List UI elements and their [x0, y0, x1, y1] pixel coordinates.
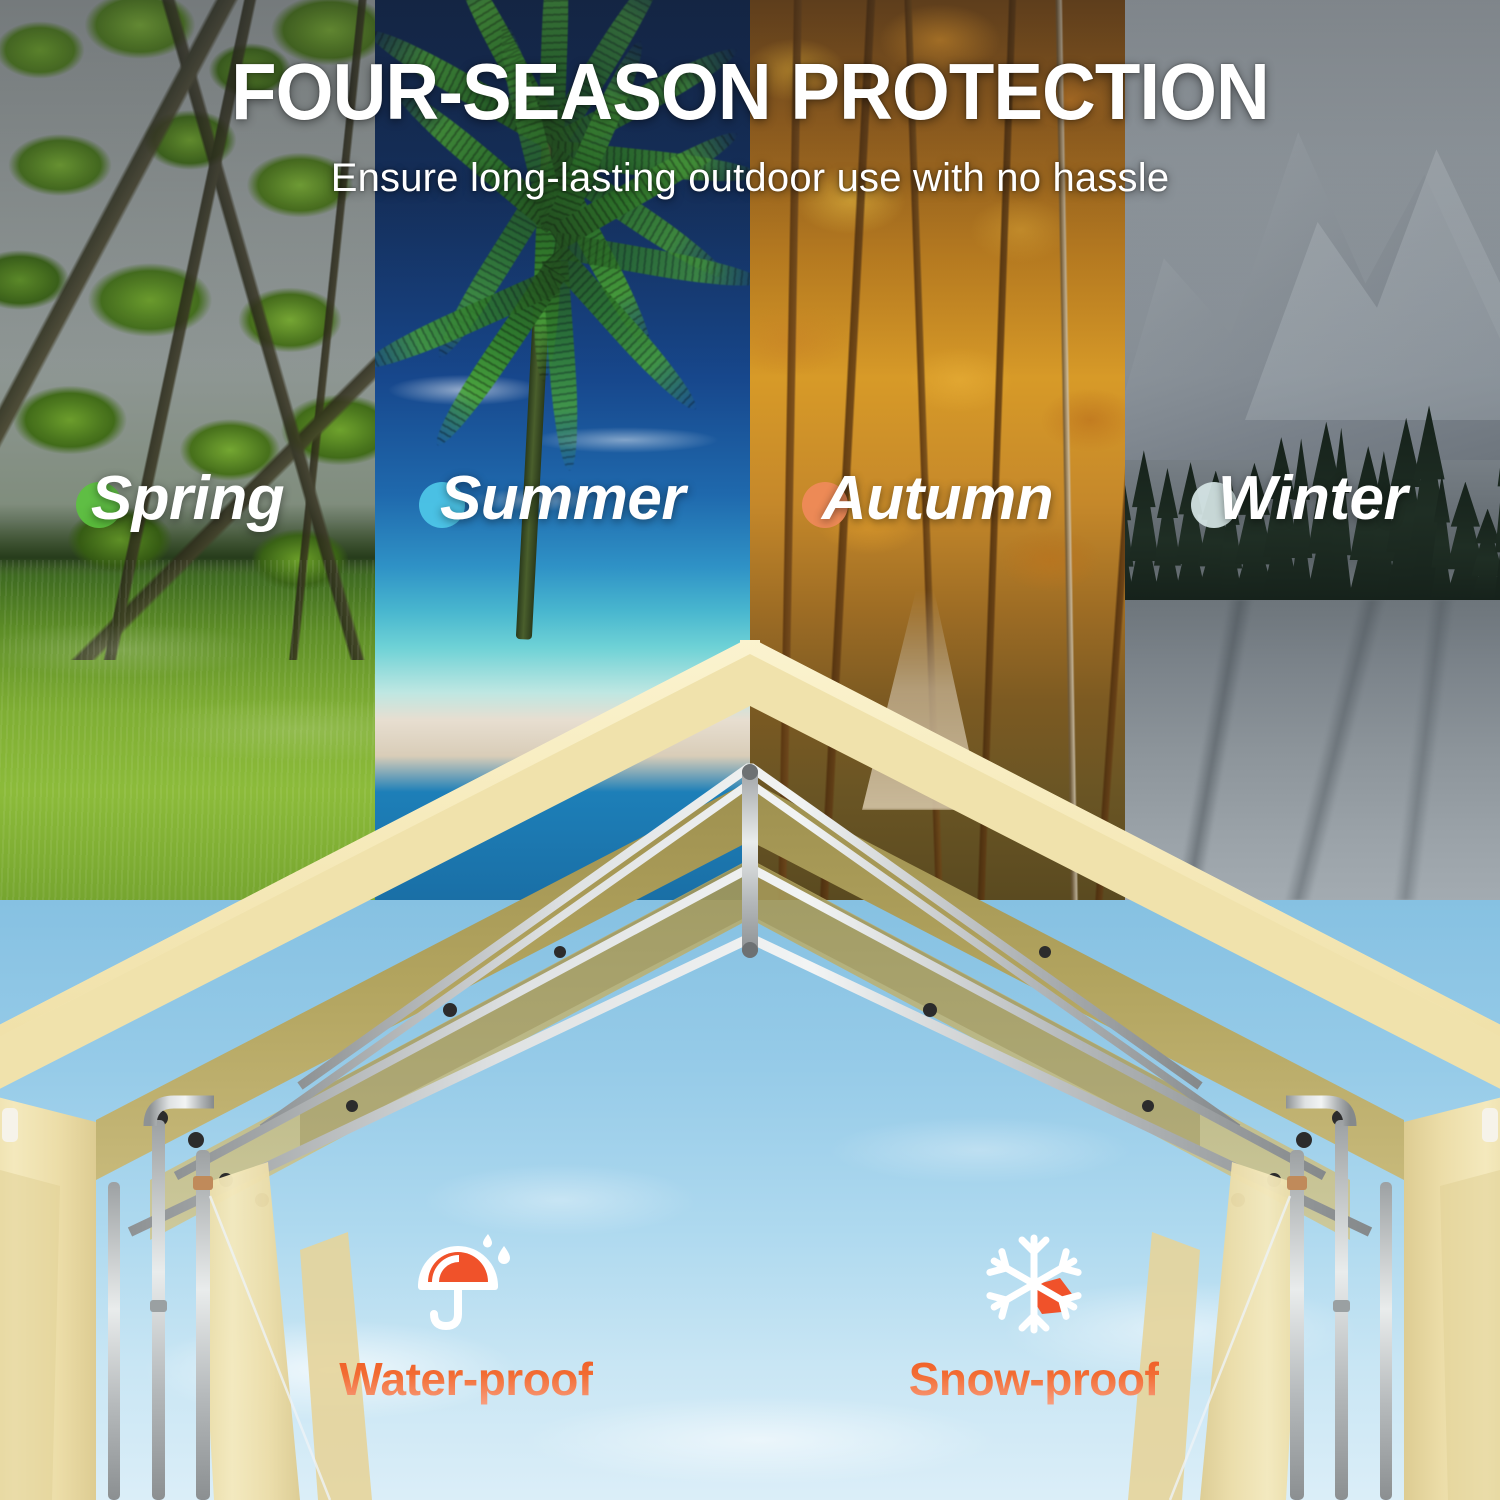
feature-snow-proof: Snow-proof [884, 1228, 1184, 1406]
season-label-winter: Winter [1125, 452, 1500, 544]
strap-left [2, 1108, 18, 1142]
feature-label: Water-proof [339, 1352, 592, 1406]
feature-label: Snow-proof [909, 1352, 1160, 1406]
apex-joint-top [742, 764, 758, 780]
umbrella-raindrops-icon [406, 1228, 526, 1336]
season-label-text: Autumn [822, 463, 1053, 534]
feature-badges: Water-proof [0, 1228, 1500, 1406]
apex-joint-bottom [742, 942, 758, 958]
season-label-text: Winter [1218, 463, 1407, 534]
season-label-text: Summer [440, 463, 685, 534]
strap-right [1482, 1108, 1498, 1142]
steel-frame [130, 764, 1370, 1232]
product-marketing-image: FOUR-SEASON PROTECTION Ensure long-lasti… [0, 0, 1500, 1500]
season-label-row: Spring Summer Autumn Winter [0, 452, 1500, 544]
connector-right [1287, 1176, 1307, 1190]
season-label-summer: Summer [375, 452, 750, 544]
season-label-spring: Spring [0, 452, 375, 544]
season-label-autumn: Autumn [750, 452, 1125, 544]
snowflake-icon [974, 1228, 1094, 1336]
connector-left [193, 1176, 213, 1190]
feature-water-proof: Water-proof [316, 1228, 616, 1406]
season-label-text: Spring [91, 463, 284, 534]
apex-king-post [742, 766, 758, 956]
